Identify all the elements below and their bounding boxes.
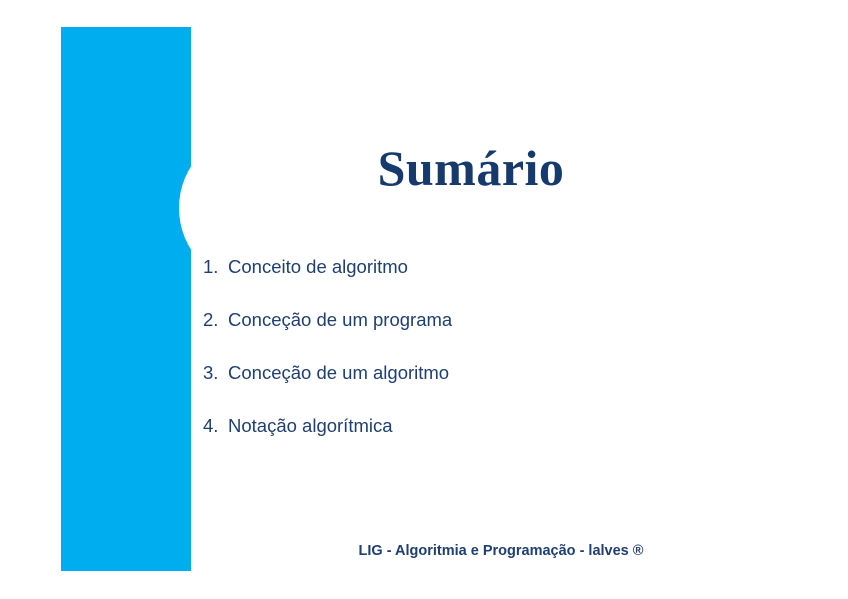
- list-item: 1. Conceito de algoritmo: [203, 256, 452, 309]
- list-item-number: 4.: [203, 415, 228, 437]
- summary-list: 1. Conceito de algoritmo 2. Conceção de …: [203, 256, 452, 468]
- list-item: 3. Conceção de um algoritmo: [203, 362, 452, 415]
- list-item-label: Conceção de um programa: [228, 309, 452, 331]
- list-item: 4. Notação algorítmica: [203, 415, 452, 468]
- decorative-blue-bar: [61, 27, 191, 571]
- slide-footer: LIG - Algoritmia e Programação - lalves …: [191, 543, 811, 559]
- page-title: Sumário: [191, 139, 751, 197]
- list-item-number: 2.: [203, 309, 228, 331]
- list-item: 2. Conceção de um programa: [203, 309, 452, 362]
- presentation-slide: Sumário 1. Conceito de algoritmo 2. Conc…: [0, 0, 848, 599]
- list-item-label: Notação algorítmica: [228, 415, 393, 437]
- list-item-number: 1.: [203, 256, 228, 278]
- list-item-label: Conceção de um algoritmo: [228, 362, 449, 384]
- list-item-number: 3.: [203, 362, 228, 384]
- list-item-label: Conceito de algoritmo: [228, 256, 408, 278]
